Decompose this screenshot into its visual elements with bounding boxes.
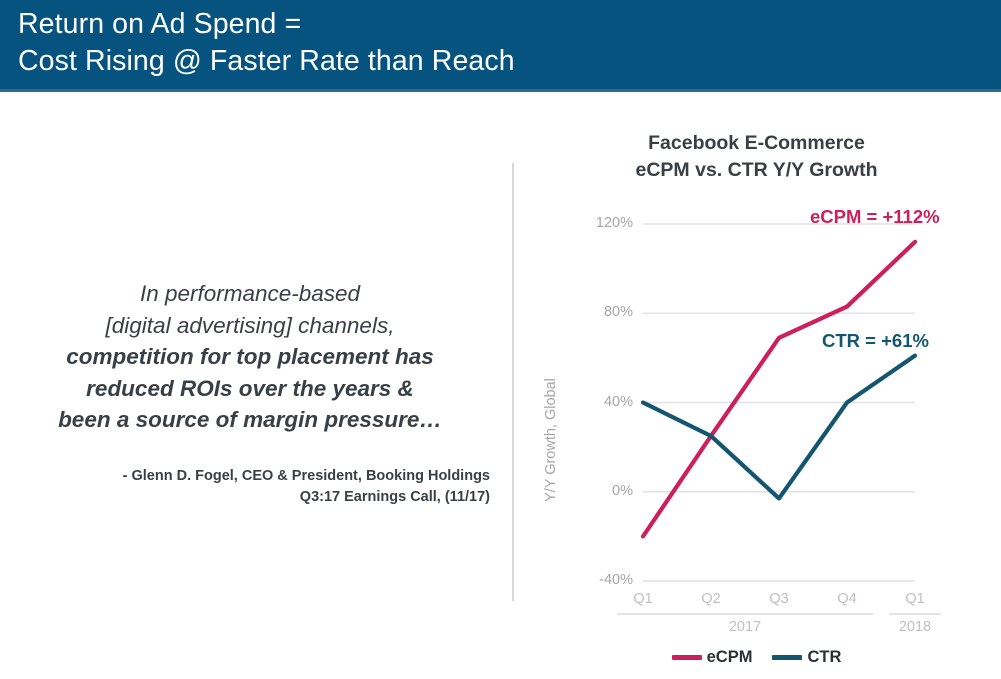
ctr-annotation: CTR = +61%	[822, 330, 929, 352]
x-axis-year-label: 2018	[889, 619, 941, 635]
quote-text: In performance-based [digital advertisin…	[0, 278, 500, 436]
quote-line: been a source of margin pressure…	[0, 404, 500, 436]
legend-item-ecpm[interactable]: eCPM	[672, 648, 753, 667]
quote-line: competition for top placement has	[0, 341, 500, 373]
y-axis-tick-label: 80%	[573, 304, 633, 320]
x-axis-tick-label: Q3	[754, 591, 804, 607]
slide-header: Return on Ad Spend = Cost Rising @ Faste…	[0, 0, 1001, 92]
legend-swatch-ecpm-icon	[672, 655, 702, 660]
attribution-line-2: Q3:17 Earnings Call, (11/17)	[0, 487, 490, 508]
x-axis-tick-label: Q4	[822, 591, 872, 607]
header-title-line-2: Cost Rising @ Faster Rate than Reach	[18, 43, 1001, 80]
legend-label-ecpm: eCPM	[707, 648, 753, 667]
y-axis-tick-label: 40%	[573, 394, 633, 410]
quote-line: [digital advertising] channels,	[0, 310, 500, 342]
x-axis-tick-label: Q1	[890, 591, 940, 607]
x-axis-year-label: 2017	[617, 619, 873, 635]
legend-item-ctr[interactable]: CTR	[772, 648, 841, 667]
gridlines	[643, 224, 915, 581]
chart-panel: Facebook E-Commerce eCPM vs. CTR Y/Y Gro…	[512, 92, 1001, 679]
y-axis-tick-label: -40%	[573, 572, 633, 588]
legend-swatch-ctr-icon	[772, 655, 802, 660]
ecpm-annotation: eCPM = +112%	[810, 206, 940, 228]
x-axis-tick-label: Q2	[686, 591, 736, 607]
quote-line: reduced ROIs over the years &	[0, 373, 500, 405]
y-axis-tick-label: 120%	[573, 215, 633, 231]
quote-line: In performance-based	[0, 278, 500, 310]
x-axis-tick-label: Q1	[618, 591, 668, 607]
y-axis-tick-label: 0%	[573, 483, 633, 499]
attribution-line-1: - Glenn D. Fogel, CEO & President, Booki…	[0, 466, 490, 487]
legend-label-ctr: CTR	[807, 648, 841, 667]
quote-attribution: - Glenn D. Fogel, CEO & President, Booki…	[0, 466, 500, 508]
header-title-line-1: Return on Ad Spend =	[18, 6, 1001, 43]
chart-legend: eCPM CTR	[512, 648, 1001, 667]
